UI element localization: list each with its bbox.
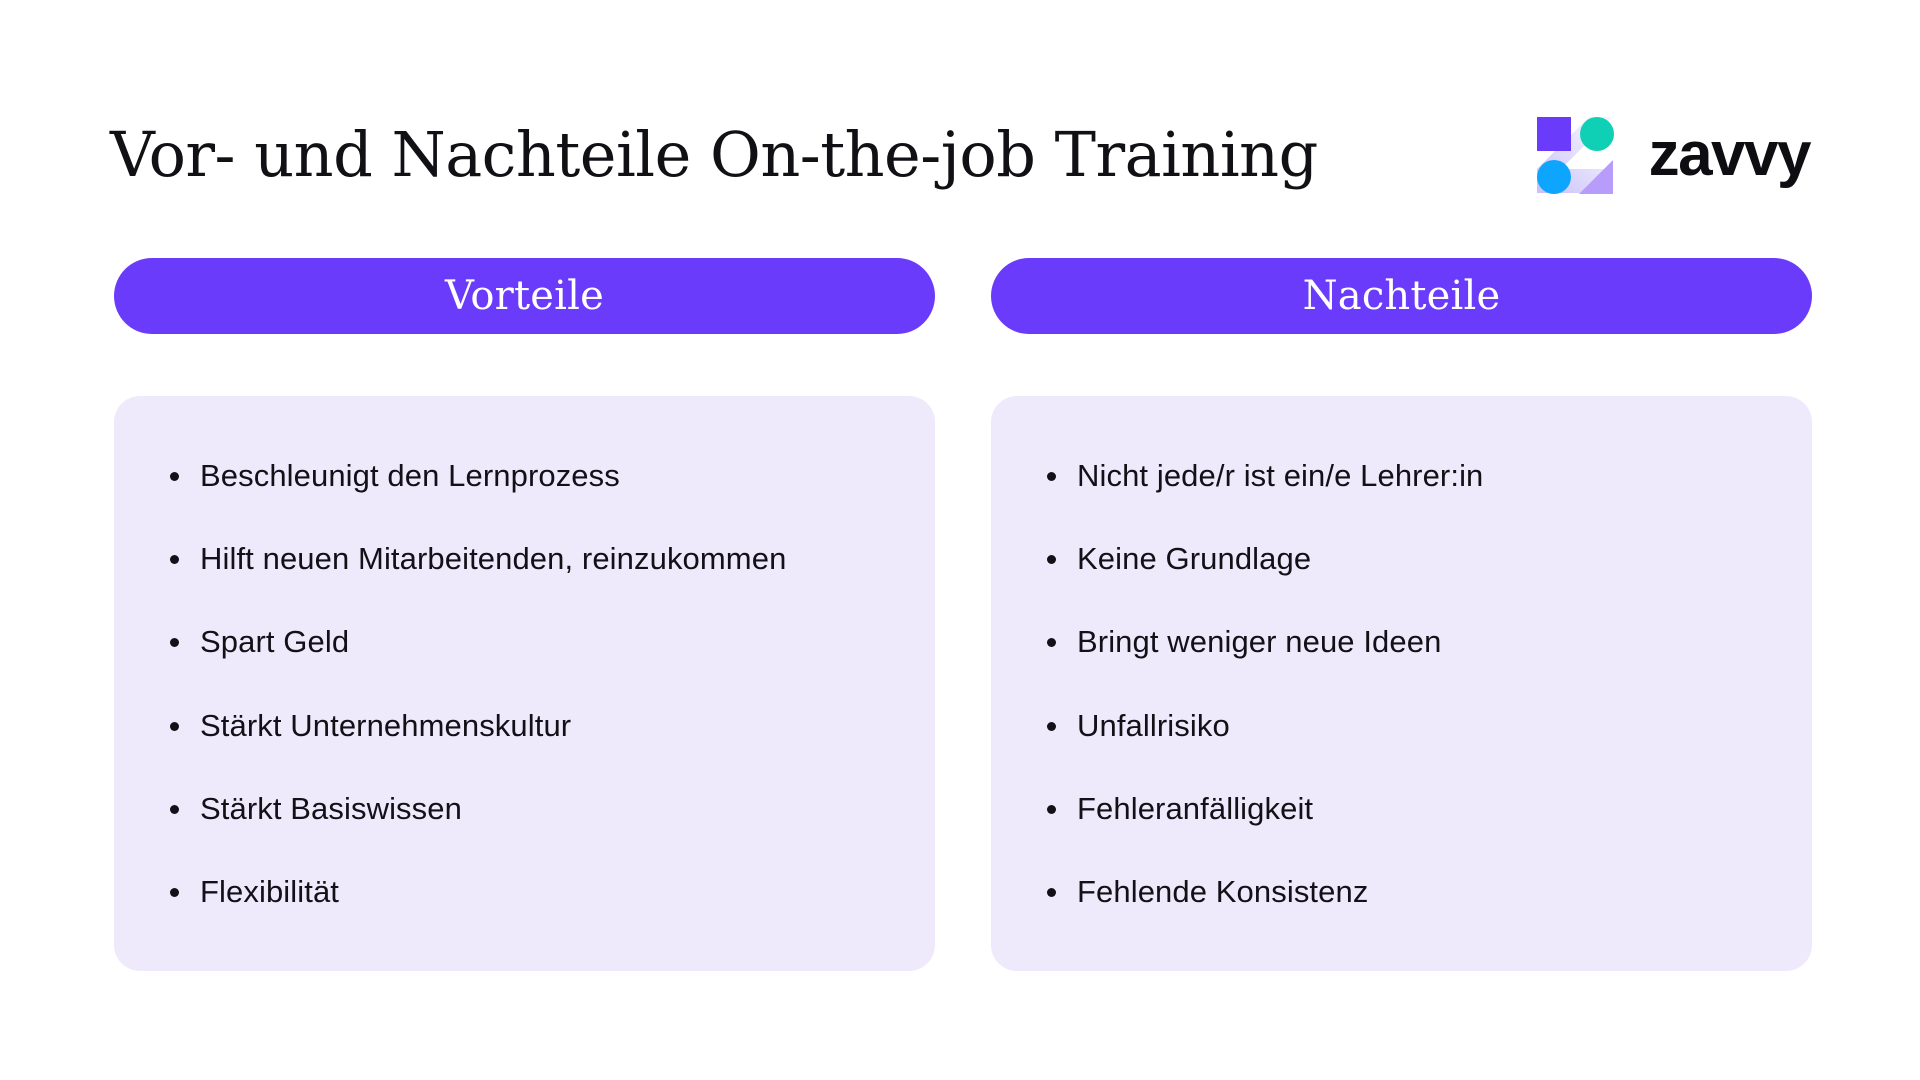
page-title: Vor- und Nachteile On-the-job Training (110, 124, 1318, 186)
column-card-pros: Beschleunigt den Lernprozess Hilft neuen… (114, 396, 935, 971)
list-item: Stärkt Basiswissen (164, 781, 885, 836)
list-item: Hilft neuen Mitarbeitenden, reinzukommen (164, 531, 885, 586)
column-pros: Vorteile Beschleunigt den Lernprozess Hi… (114, 258, 935, 971)
list-item: Bringt weniger neue Ideen (1041, 614, 1762, 669)
list-item: Unfallrisiko (1041, 698, 1762, 753)
column-header-pros[interactable]: Vorteile (114, 258, 935, 334)
zavvy-wordmark: zavvy (1649, 124, 1810, 186)
column-cons: Nachteile Nicht jede/r ist ein/e Lehrer:… (991, 258, 1812, 971)
list-item: Beschleunigt den Lernprozess (164, 448, 885, 503)
zavvy-logo-mark-icon (1527, 107, 1623, 203)
bullet-list-cons: Nicht jede/r ist ein/e Lehrer:in Keine G… (1041, 448, 1762, 919)
comparison-columns: Vorteile Beschleunigt den Lernprozess Hi… (114, 258, 1812, 971)
brand-logo: zavvy (1527, 107, 1810, 203)
column-header-cons[interactable]: Nachteile (991, 258, 1812, 334)
list-item: Flexibilität (164, 864, 885, 919)
list-item: Spart Geld (164, 614, 885, 669)
list-item: Nicht jede/r ist ein/e Lehrer:in (1041, 448, 1762, 503)
bullet-list-pros: Beschleunigt den Lernprozess Hilft neuen… (164, 448, 885, 919)
slide-root: Vor- und Nachteile On-the-job Training (0, 0, 1920, 1080)
slide-header: Vor- und Nachteile On-the-job Training (110, 100, 1810, 210)
list-item: Keine Grundlage (1041, 531, 1762, 586)
column-header-label-cons: Nachteile (1303, 276, 1501, 316)
list-item: Stärkt Unternehmenskultur (164, 698, 885, 753)
list-item: Fehlende Konsistenz (1041, 864, 1762, 919)
column-header-label-pros: Vorteile (445, 276, 604, 316)
list-item: Fehleranfälligkeit (1041, 781, 1762, 836)
column-card-cons: Nicht jede/r ist ein/e Lehrer:in Keine G… (991, 396, 1812, 971)
